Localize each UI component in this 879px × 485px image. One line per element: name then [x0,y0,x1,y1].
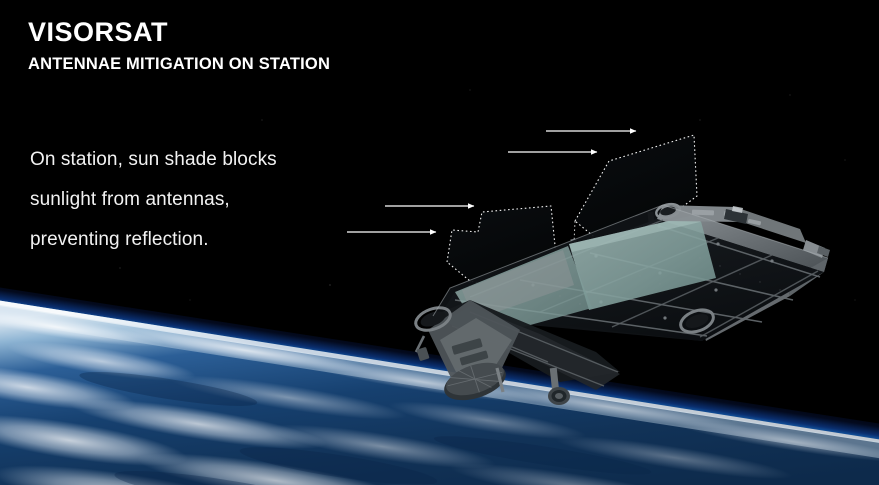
caption-line-1: On station, sun shade blocks [30,140,277,180]
caption-line-2: sunlight from antennas, [30,180,277,220]
slide-canvas: VISORSAT ANTENNAE MITIGATION ON STATION … [0,0,879,485]
page-subtitle: ANTENNAE MITIGATION ON STATION [28,55,330,73]
caption-line-3: preventing reflection. [30,220,277,260]
title-block: VISORSAT ANTENNAE MITIGATION ON STATION [28,18,330,73]
caption-block: On station, sun shade blocks sunlight fr… [30,140,277,260]
page-title: VISORSAT [28,18,330,46]
